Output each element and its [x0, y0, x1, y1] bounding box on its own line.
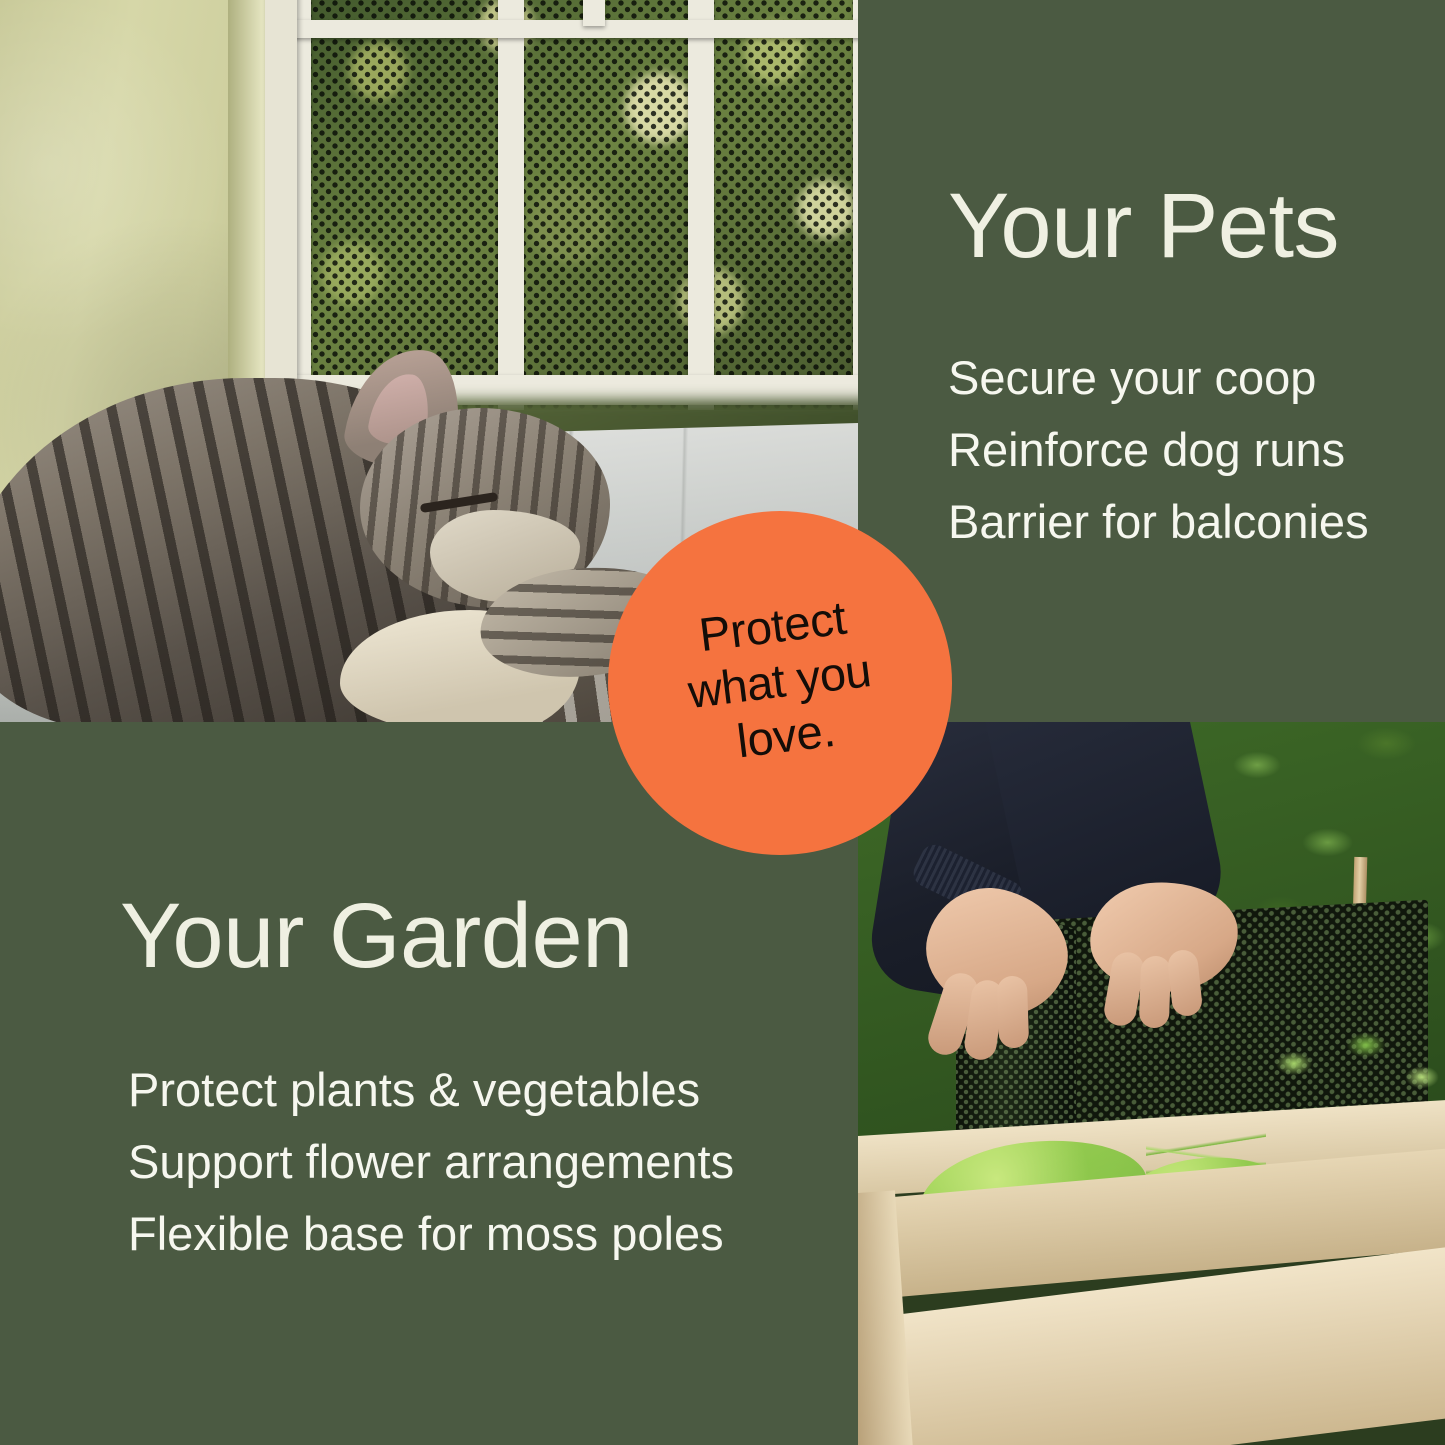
window-mullion	[583, 0, 605, 26]
pets-copy-block: Your Pets Secure your coop Reinforce dog…	[948, 180, 1369, 558]
finger	[1139, 955, 1171, 1028]
garden-bullet-item: Support flower arrangements	[128, 1126, 734, 1198]
garden-bullet-item: Protect plants & vegetables	[128, 1054, 734, 1126]
garden-bullet-list: Protect plants & vegetables Support flow…	[128, 1054, 734, 1270]
raised-bed-netting-photo	[858, 722, 1445, 1445]
pets-bullet-list: Secure your coop Reinforce dog runs Barr…	[948, 342, 1369, 558]
pets-bullet-item: Secure your coop	[948, 342, 1369, 414]
product-feature-infographic: Your Pets Secure your coop Reinforce dog…	[0, 0, 1445, 1445]
garden-bullet-item: Flexible base for moss poles	[128, 1198, 734, 1270]
window-mullion	[283, 20, 858, 38]
protect-what-you-love-badge: Protect what you love.	[608, 511, 952, 855]
pets-text-panel: Your Pets Secure your coop Reinforce dog…	[858, 0, 1445, 722]
garden-photo	[858, 722, 1445, 1445]
pets-heading: Your Pets	[948, 180, 1369, 272]
pets-bullet-item: Barrier for balconies	[948, 486, 1369, 558]
finger	[997, 975, 1029, 1048]
badge-text: Protect what you love.	[679, 588, 882, 778]
garden-copy-block: Your Garden Protect plants & vegetables …	[120, 890, 734, 1270]
garden-heading: Your Garden	[120, 890, 734, 982]
pets-bullet-item: Reinforce dog runs	[948, 414, 1369, 486]
